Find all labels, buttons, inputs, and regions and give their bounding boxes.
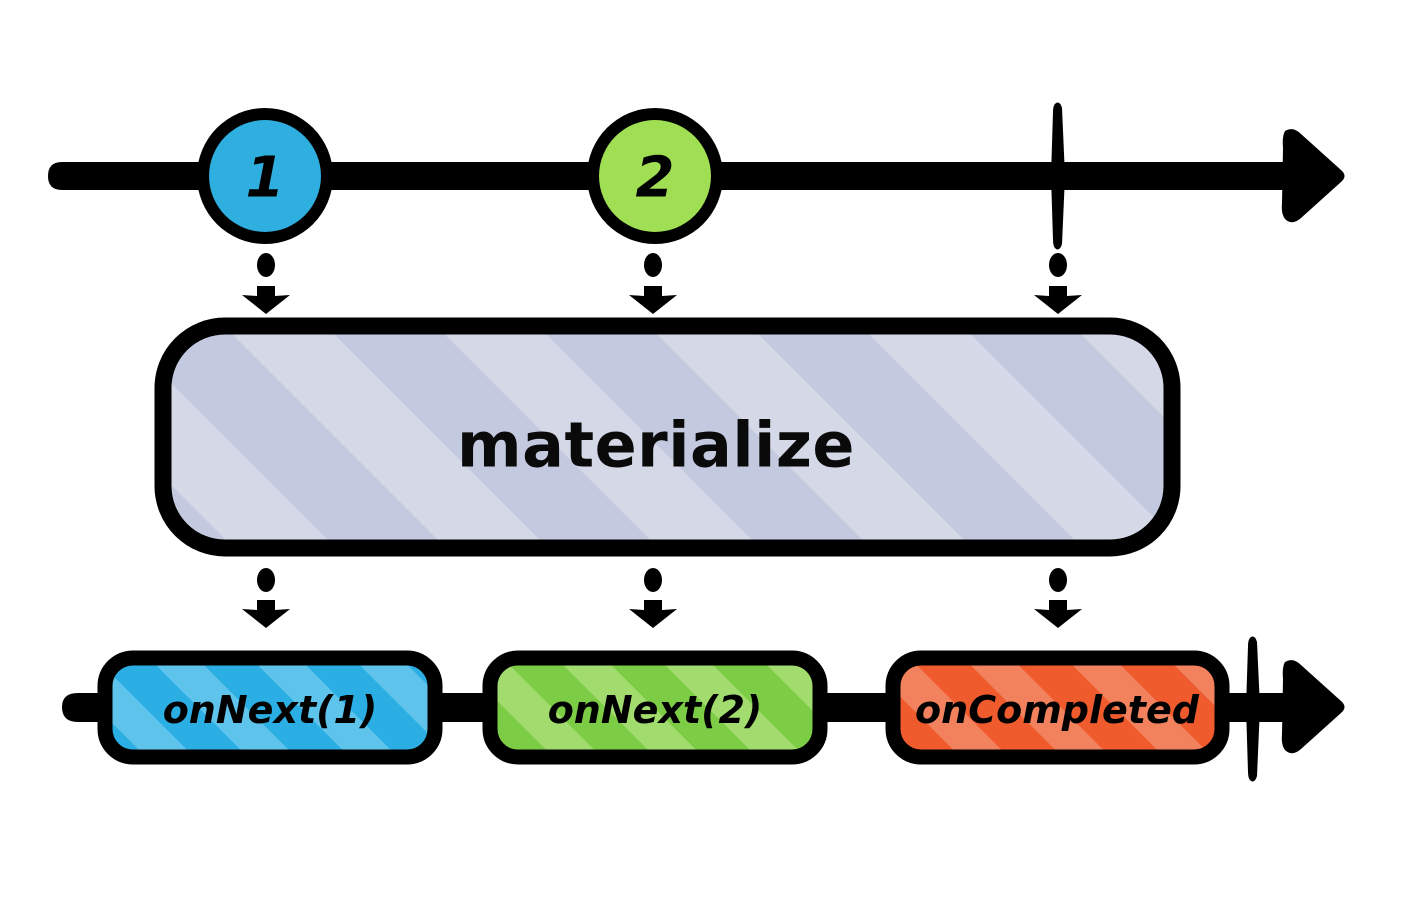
dotted-down-arrow (242, 568, 290, 628)
arrow-head (1034, 286, 1082, 314)
diagram-svg: 1 2 materialize (0, 0, 1401, 901)
notification-pill-oncompleted[interactable]: onCompleted (893, 658, 1222, 757)
source-marble-2[interactable]: 2 (587, 108, 723, 244)
pill-label: onNext(2) (548, 688, 763, 732)
arrow-dash (257, 568, 275, 592)
dotted-down-arrow (242, 253, 290, 314)
arrow-head (1034, 600, 1082, 628)
arrow-dash (644, 568, 662, 592)
source-timeline-arrowhead (1282, 129, 1345, 222)
connector-arrows-top (242, 253, 1082, 314)
source-marble-1[interactable]: 1 (197, 108, 333, 244)
connector-arrows-bottom (242, 568, 1082, 628)
operator-box[interactable]: materialize (163, 326, 1172, 548)
marble-value-label: 2 (636, 146, 675, 211)
result-timeline-arrowhead (1282, 660, 1345, 753)
pill-label: onNext(1) (163, 688, 378, 732)
arrow-dash (257, 253, 275, 277)
pill-label: onCompleted (915, 688, 1200, 732)
notification-pill-onnext-1[interactable]: onNext(1) (105, 658, 435, 757)
source-completion-bar (1051, 103, 1065, 250)
dotted-down-arrow (1034, 253, 1082, 314)
arrow-head (629, 286, 677, 314)
arrow-head (242, 600, 290, 628)
arrow-dash (644, 253, 662, 277)
notification-pill-onnext-2[interactable]: onNext(2) (490, 658, 820, 757)
operator-box-label: materialize (457, 409, 855, 482)
arrow-dash (1049, 568, 1067, 592)
result-completion-bar (1246, 637, 1260, 782)
marble-value-label: 1 (246, 146, 285, 211)
dotted-down-arrow (629, 568, 677, 628)
arrow-head (242, 286, 290, 314)
marble-diagram-canvas: 1 2 materialize (0, 0, 1401, 901)
arrow-head (629, 600, 677, 628)
dotted-down-arrow (629, 253, 677, 314)
arrow-dash (1049, 253, 1067, 277)
dotted-down-arrow (1034, 568, 1082, 628)
